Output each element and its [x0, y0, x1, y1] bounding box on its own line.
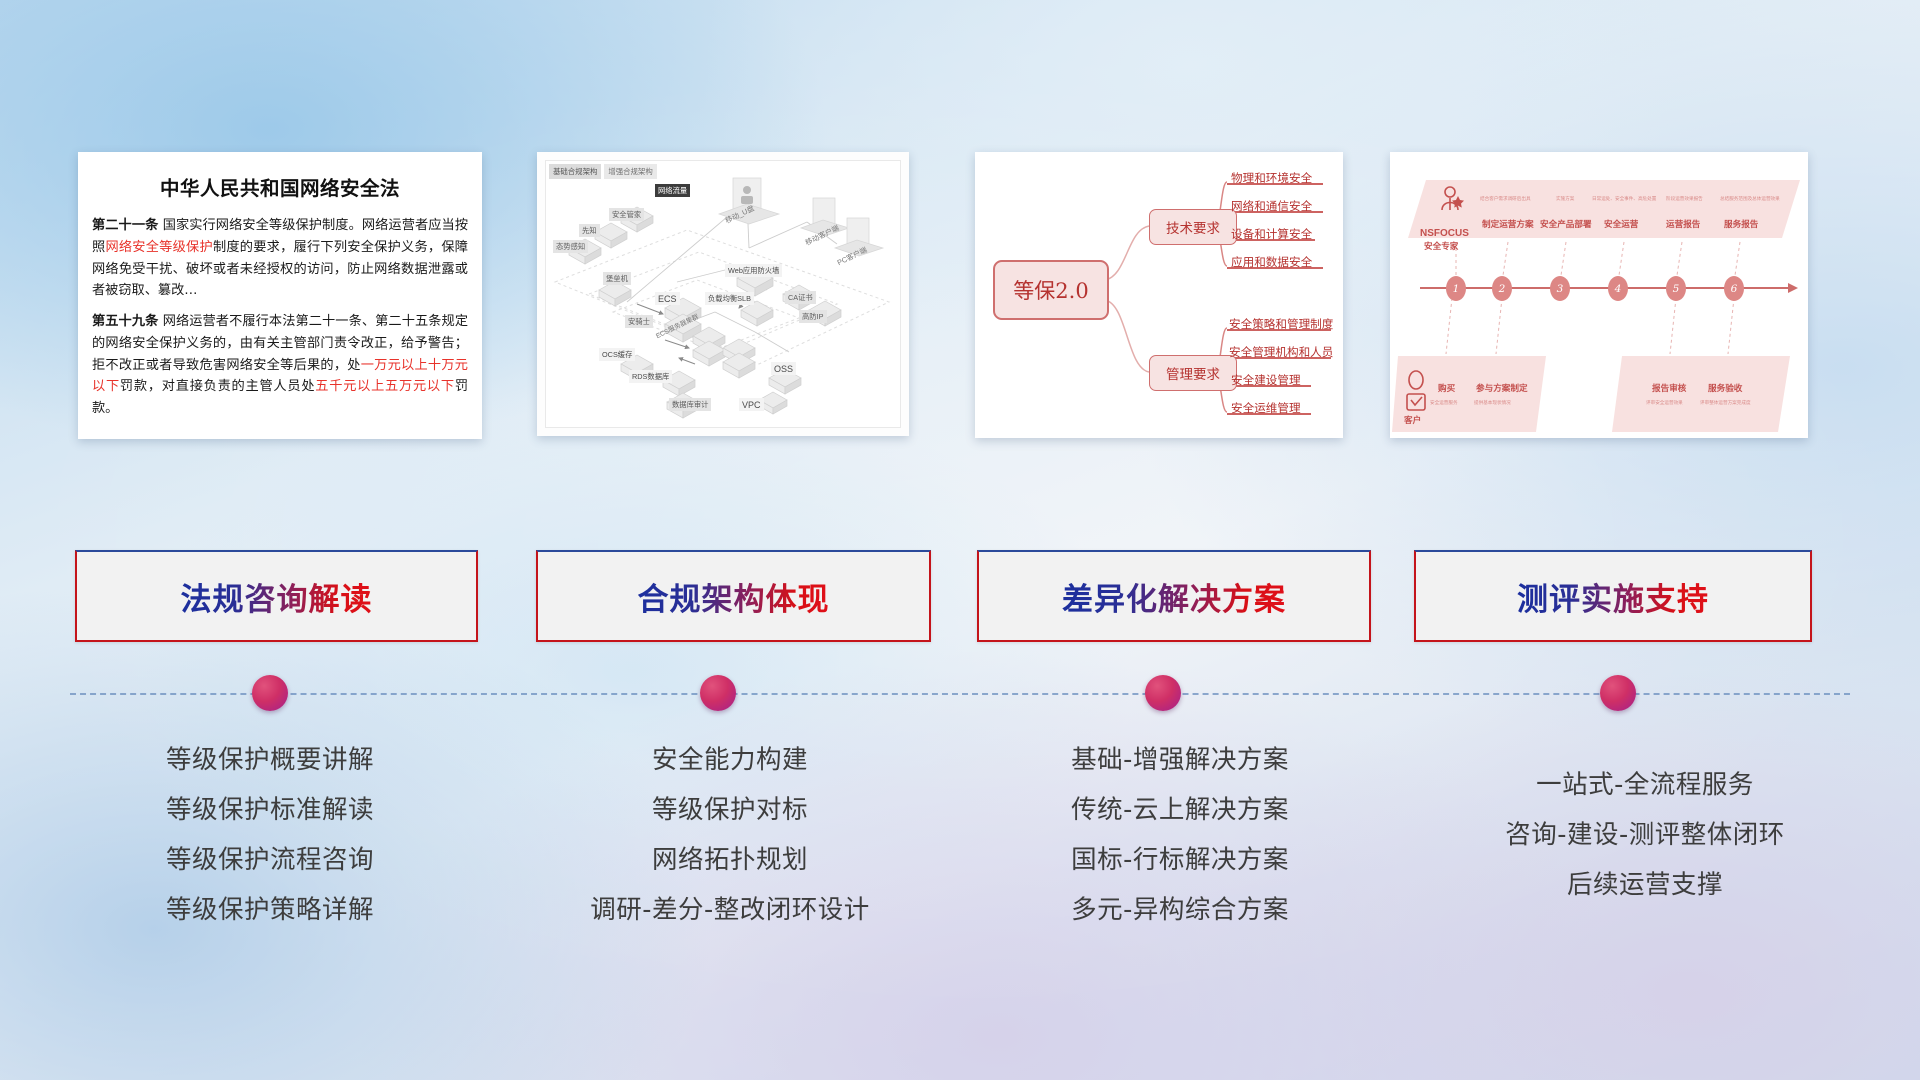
detail-item: 等级保护对标	[500, 785, 960, 835]
law-run-highlight: 网络安全等级保护	[105, 240, 213, 255]
arch-node-anti-ddos-ip: 高防IP	[799, 310, 827, 323]
mindmap-leaf: 安全策略和管理制度	[1229, 316, 1333, 332]
architecture-tabs: 基础合规架构 增强合规架构	[549, 164, 657, 179]
arch-node-security-butler: 安全管家	[609, 208, 644, 221]
mindmap-branch-technical: 技术要求	[1149, 209, 1237, 245]
headline-label: 差异化解决方案	[1062, 574, 1286, 619]
flow-top-note: 结合客户需求调研后出具	[1480, 196, 1531, 202]
flow-top-title: 制定运营方案	[1482, 218, 1534, 230]
timeline-dot-1[interactable]	[252, 675, 288, 711]
flow-top-note: 阶段运营效果报告	[1666, 196, 1703, 202]
arch-node-traffic: 网络流量	[655, 184, 690, 197]
arch-node-slb: 负载均衡SLB	[705, 292, 754, 305]
mindmap-leaf: 安全建设管理	[1231, 372, 1301, 388]
detail-item: 多元-异构综合方案	[950, 885, 1410, 935]
flow-top-note: 总结服务范围及总体运营效果	[1720, 196, 1780, 202]
mindmap-leaf: 安全运维管理	[1231, 400, 1301, 416]
flow-bottom-note: 评审整体运营方案完成度	[1700, 400, 1751, 406]
law-card-title: 中华人民共和国网络安全法	[92, 172, 468, 201]
arch-node-xianzhi: 先知	[579, 224, 600, 237]
flow-role-nsfocus: NSFOCUS	[1420, 228, 1469, 239]
arch-node-situational-awareness: 态势感知	[553, 240, 588, 253]
flow-step-number: 3	[1550, 276, 1570, 301]
headline-label: 合规架构体现	[638, 574, 830, 619]
detail-item: 一站式-全流程服务	[1400, 760, 1890, 810]
nsfocus-service-flow: NSFOCUS 安全专家 客户 结合客户需求调研后出具 制定运营方案 实施方案 …	[1390, 152, 1808, 438]
flow-top-title: 安全产品部署	[1540, 218, 1592, 230]
mindmap-leaf: 应用和数据安全	[1231, 254, 1312, 270]
mindmap-leaf: 设备和计算安全	[1231, 226, 1312, 242]
detail-column-4: 一站式-全流程服务 咨询-建设-测评整体闭环 后续运营支撑	[1400, 760, 1890, 910]
detail-item: 等级保护流程咨询	[40, 835, 500, 885]
flow-bottom-title: 报告审核	[1652, 382, 1686, 394]
detail-item: 调研-差分-整改闭环设计	[500, 885, 960, 935]
flow-bottom-title: 参与方案制定	[1476, 382, 1528, 394]
timeline	[0, 665, 1920, 721]
flow-bottom-title: 购买	[1438, 382, 1455, 394]
law-card-body: 中华人民共和国网络安全法 第二十一条 国家实行网络安全等级保护制度。网络运营者应…	[78, 152, 482, 439]
arch-node-ocs-cache: OCS缓存	[599, 348, 635, 361]
detail-item: 国标-行标解决方案	[950, 835, 1410, 885]
mindmap-card: 等保2.0 技术要求 管理要求 物理和环境安全 网络和通信安全 设备和计算安全 …	[975, 152, 1343, 438]
arch-node-anqishi: 安骑士	[625, 315, 653, 328]
law-run-highlight: 五千元以上五万元以下	[315, 379, 455, 394]
headline-box-evaluation-support[interactable]: 测评实施支持	[1414, 550, 1812, 642]
flow-step-number: 6	[1724, 276, 1744, 301]
headline-box-compliance-architecture[interactable]: 合规架构体现	[536, 550, 931, 642]
flow-role-customer: 客户	[1404, 414, 1421, 426]
arch-node-rds: RDS数据库	[629, 370, 672, 383]
dengbao-mindmap: 等保2.0 技术要求 管理要求 物理和环境安全 网络和通信安全 设备和计算安全 …	[975, 152, 1343, 438]
flow-bottom-note: 提供基本现状情况	[1474, 400, 1511, 406]
timeline-dashed-line	[70, 693, 1850, 695]
detail-item: 安全能力构建	[500, 735, 960, 785]
arch-node-db-audit: 数据库审计	[669, 398, 711, 411]
detail-item: 咨询-建设-测评整体闭环	[1400, 810, 1890, 860]
timeline-dot-4[interactable]	[1600, 675, 1636, 711]
slide-stage: 中华人民共和国网络安全法 第二十一条 国家实行网络安全等级保护制度。网络运营者应…	[0, 0, 1920, 1080]
mindmap-leaf: 网络和通信安全	[1231, 198, 1312, 214]
flow-top-title: 安全运营	[1604, 218, 1638, 230]
headline-label: 法规咨询解读	[181, 574, 373, 619]
mindmap-root: 等保2.0	[993, 260, 1109, 320]
flow-role-nsfocus-sub: 安全专家	[1424, 240, 1458, 252]
flow-top-title: 服务报告	[1724, 218, 1758, 230]
illustration-card-row: 中华人民共和国网络安全法 第二十一条 国家实行网络安全等级保护制度。网络运营者应…	[0, 152, 1920, 442]
mindmap-leaf: 安全管理机构和人员	[1229, 344, 1333, 360]
flow-bottom-note: 安全运营服务	[1430, 400, 1458, 406]
arch-node-ca-cert: CA证书	[785, 291, 816, 304]
service-flow-card: NSFOCUS 安全专家 客户 结合客户需求调研后出具 制定运营方案 实施方案 …	[1390, 152, 1808, 438]
detail-item: 网络拓扑规划	[500, 835, 960, 885]
flow-top-note: 实施方案	[1556, 196, 1574, 202]
arch-node-vpc: VPC	[739, 398, 764, 411]
architecture-diagram: 基础合规架构 增强合规架构	[537, 152, 909, 436]
arch-node-waf: Web应用防火墙	[725, 264, 782, 277]
law-article-label-21: 第二十一条	[92, 218, 158, 233]
detail-item: 等级保护标准解读	[40, 785, 500, 835]
flow-step-number: 4	[1608, 276, 1628, 301]
law-paragraph-21: 第二十一条 国家实行网络安全等级保护制度。网络运营者应当按照网络安全等级保护制度…	[92, 215, 468, 302]
detail-item: 等级保护概要讲解	[40, 735, 500, 785]
headline-label: 测评实施支持	[1517, 574, 1709, 619]
flow-bottom-note: 评审安全运营效果	[1646, 400, 1683, 406]
arch-node-ecs: ECS	[655, 292, 680, 305]
flow-step-number: 1	[1446, 276, 1466, 301]
arch-node-oss: OSS	[771, 362, 796, 375]
detail-column-3: 基础-增强解决方案 传统-云上解决方案 国标-行标解决方案 多元-异构综合方案	[950, 735, 1410, 935]
law-run: 罚款，对直接负责的主管人员处	[120, 379, 315, 394]
law-article-label-59: 第五十九条	[92, 314, 158, 329]
flow-step-number: 2	[1492, 276, 1512, 301]
headline-box-regulation-consulting[interactable]: 法规咨询解读	[75, 550, 478, 642]
headline-row: 法规咨询解读 合规架构体现 差异化解决方案 测评实施支持	[0, 550, 1920, 642]
detail-item: 基础-增强解决方案	[950, 735, 1410, 785]
tab-enhanced-architecture[interactable]: 增强合规架构	[604, 164, 656, 179]
flow-top-note: 日常运处、安全事件、高危处置	[1592, 196, 1656, 202]
mindmap-branch-management: 管理要求	[1149, 355, 1237, 391]
flow-bottom-title: 服务验收	[1708, 382, 1742, 394]
flow-top-title: 运营报告	[1666, 218, 1700, 230]
detail-column-1: 等级保护概要讲解 等级保护标准解读 等级保护流程咨询 等级保护策略详解	[40, 735, 500, 935]
timeline-dot-3[interactable]	[1145, 675, 1181, 711]
headline-box-differentiated-solution[interactable]: 差异化解决方案	[977, 550, 1371, 642]
timeline-dot-2[interactable]	[700, 675, 736, 711]
arch-node-bastion-host: 堡垒机	[603, 272, 631, 285]
detail-item: 等级保护策略详解	[40, 885, 500, 935]
flow-step-number: 5	[1666, 276, 1686, 301]
tab-basic-architecture[interactable]: 基础合规架构	[549, 164, 601, 179]
detail-item: 传统-云上解决方案	[950, 785, 1410, 835]
detail-item: 后续运营支撑	[1400, 860, 1890, 910]
cloud-architecture-card: 基础合规架构 增强合规架构	[537, 152, 909, 436]
mindmap-leaf: 物理和环境安全	[1231, 170, 1312, 186]
detail-column-row: 等级保护概要讲解 等级保护标准解读 等级保护流程咨询 等级保护策略详解 安全能力…	[0, 735, 1920, 1035]
detail-column-2: 安全能力构建 等级保护对标 网络拓扑规划 调研-差分-整改闭环设计	[500, 735, 960, 935]
law-text-card: 中华人民共和国网络安全法 第二十一条 国家实行网络安全等级保护制度。网络运营者应…	[78, 152, 482, 439]
law-paragraph-59: 第五十九条 网络运营者不履行本法第二十一条、第二十五条规定的网络安全保护义务的，…	[92, 311, 468, 420]
